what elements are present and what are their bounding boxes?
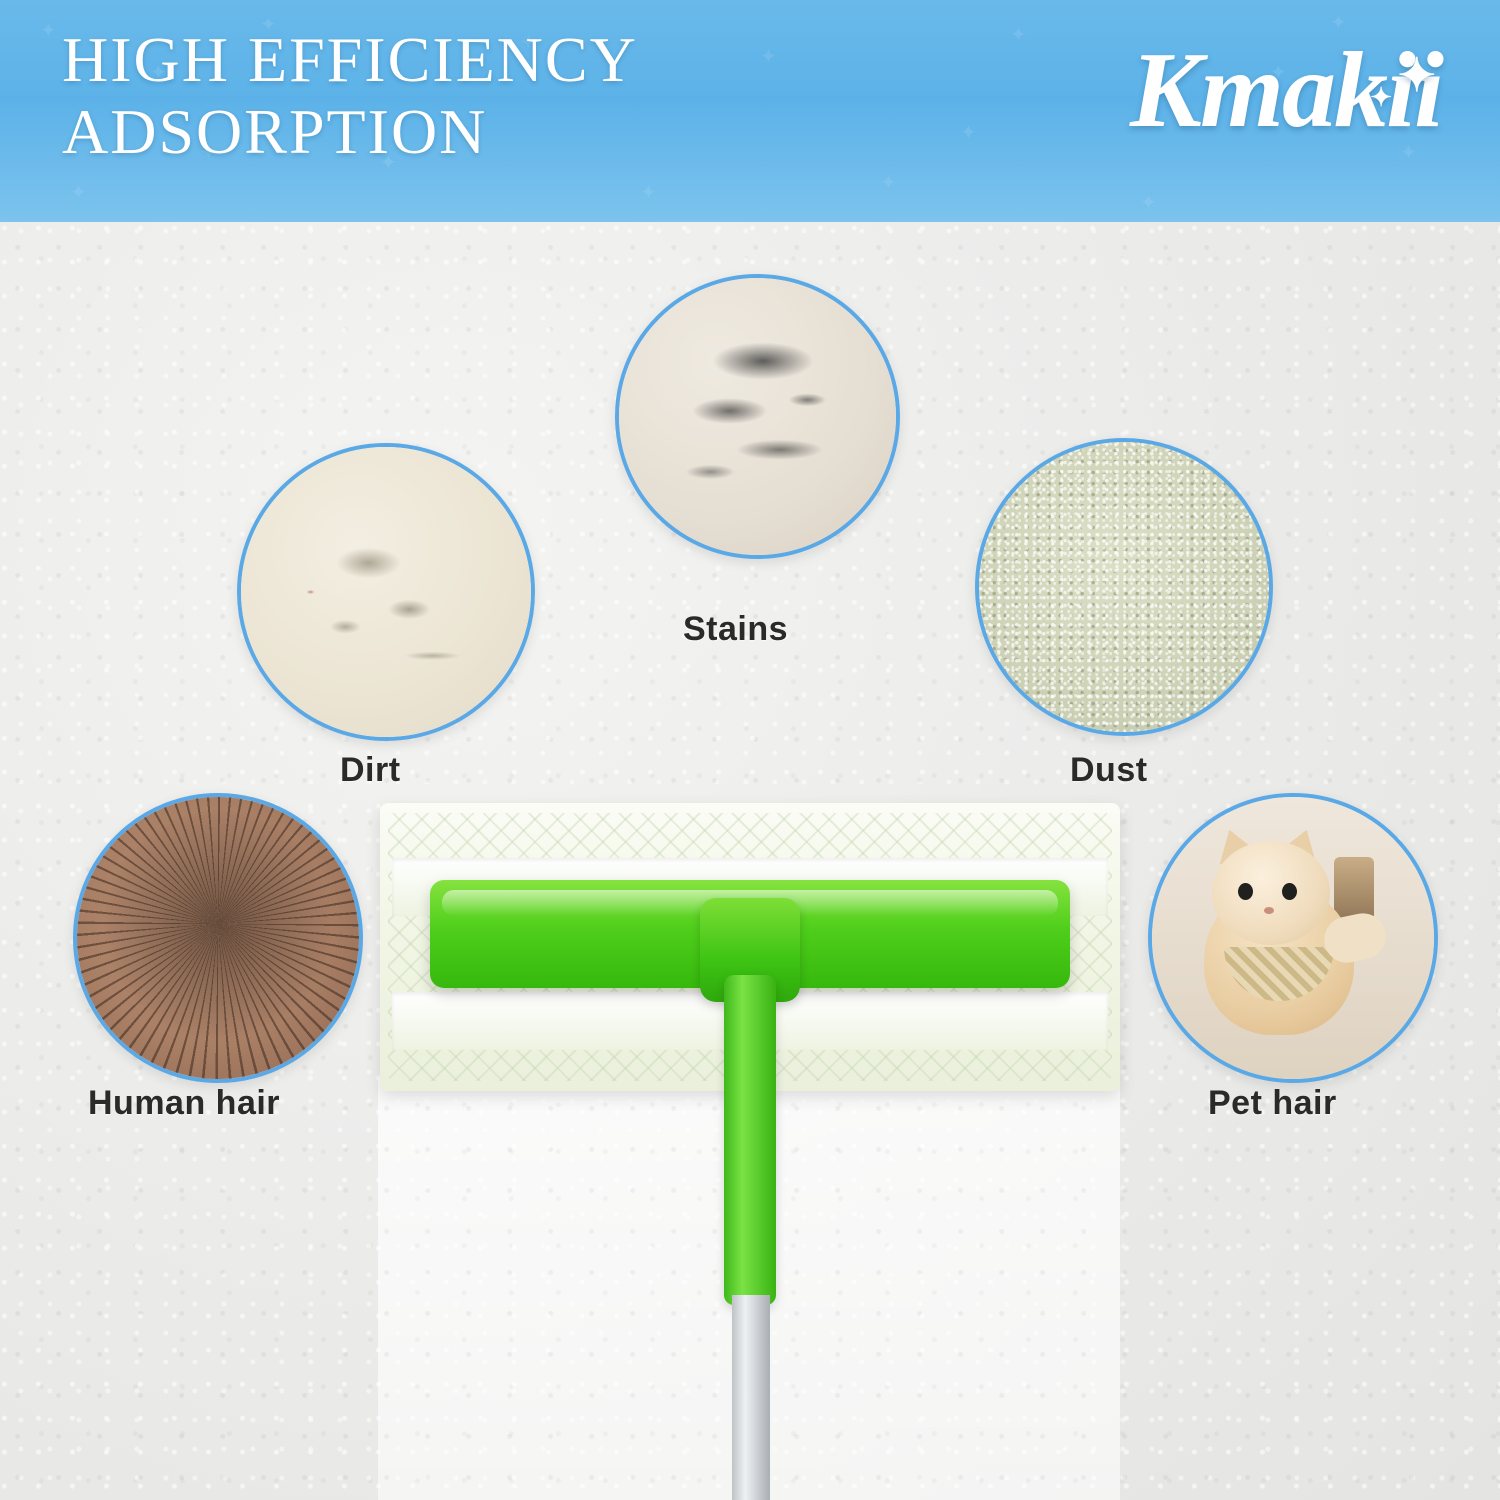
brand-logo: Kmakii ✦ ✦ xyxy=(1130,36,1442,146)
human-hair-label: Human hair xyxy=(88,1084,280,1123)
pet-hair-photo-image xyxy=(1152,797,1434,1079)
cat-nose xyxy=(1264,907,1274,914)
dirt-swatch-image xyxy=(241,447,531,737)
dust-swatch-image xyxy=(979,442,1269,732)
brand-logo-text: Kmakii xyxy=(1130,31,1442,150)
dirt-label: Dirt xyxy=(340,751,401,790)
headline-line-2: ADSORPTION xyxy=(62,96,922,168)
product-infographic: ✦ ✦ ✦ ✦ ✦ ✦ ✦ ✦ ✦ ✦ ✦ ✦ ✦ ✦ ✦ ✦ HIGH EFF… xyxy=(0,0,1500,1500)
human-hair-swatch-image xyxy=(77,797,359,1079)
pet-hair-photo-icon xyxy=(1148,793,1438,1083)
stains-swatch-image xyxy=(619,278,896,555)
header-banner: ✦ ✦ ✦ ✦ ✦ ✦ ✦ ✦ ✦ ✦ ✦ ✦ ✦ ✦ ✦ ✦ HIGH EFF… xyxy=(0,0,1500,222)
cat-head xyxy=(1212,841,1330,945)
headline: HIGH EFFICIENCY ADSORPTION xyxy=(62,24,922,168)
stains-swatch-icon xyxy=(615,274,900,559)
headline-line-1: HIGH EFFICIENCY xyxy=(62,24,922,96)
pet-hair-label: Pet hair xyxy=(1208,1084,1337,1123)
dust-label: Dust xyxy=(1070,751,1148,790)
sparkle-small-icon: ✦ xyxy=(1370,42,1390,152)
mop-handle-pole xyxy=(732,1295,770,1500)
cat-eye-left xyxy=(1238,883,1253,900)
human-hair-swatch-icon xyxy=(73,793,363,1083)
cat-eye-right xyxy=(1282,883,1297,900)
sparkle-large-icon: ✦ xyxy=(1397,20,1434,130)
stains-label: Stains xyxy=(683,610,788,649)
dirt-swatch-icon xyxy=(237,443,535,741)
dust-swatch-icon xyxy=(975,438,1273,736)
mop-neck xyxy=(724,975,776,1305)
